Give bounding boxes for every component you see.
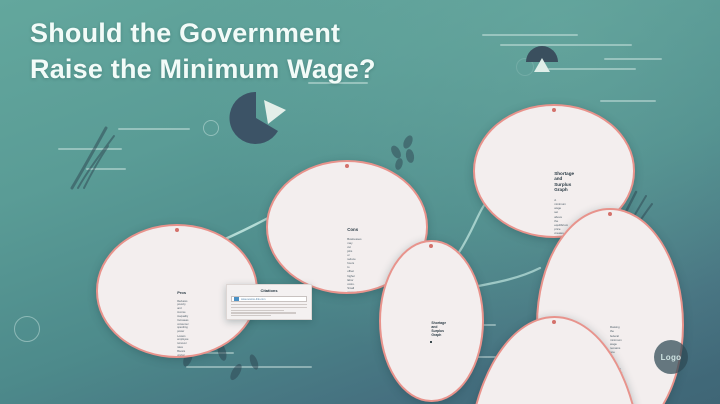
- graph-image[interactable]: [430, 341, 432, 343]
- url-bar[interactable]: www.source-link.com: [231, 296, 307, 302]
- node-media-graph[interactable]: Shortage and Surplus Graph: [379, 240, 484, 402]
- node-anchor-dot: [552, 320, 556, 324]
- card-placeholder-lines: [231, 304, 307, 316]
- card-citations[interactable]: Citations www.source-link.com: [226, 284, 312, 320]
- logo[interactable]: Logo: [654, 340, 688, 374]
- node-anchor-dot: [608, 212, 612, 216]
- presentation-canvas[interactable]: Should the Government Raise the Minimum …: [0, 0, 720, 404]
- link-icon: [234, 297, 239, 301]
- url-text: www.source-link.com: [241, 298, 265, 301]
- node-anchor-dot: [345, 164, 349, 168]
- node-anchor-dot: [429, 244, 433, 248]
- card-title: Citations: [231, 288, 307, 293]
- logo-label: Logo: [661, 353, 682, 362]
- node-anchor-dot: [175, 228, 179, 232]
- node-anchor-dot: [552, 108, 556, 112]
